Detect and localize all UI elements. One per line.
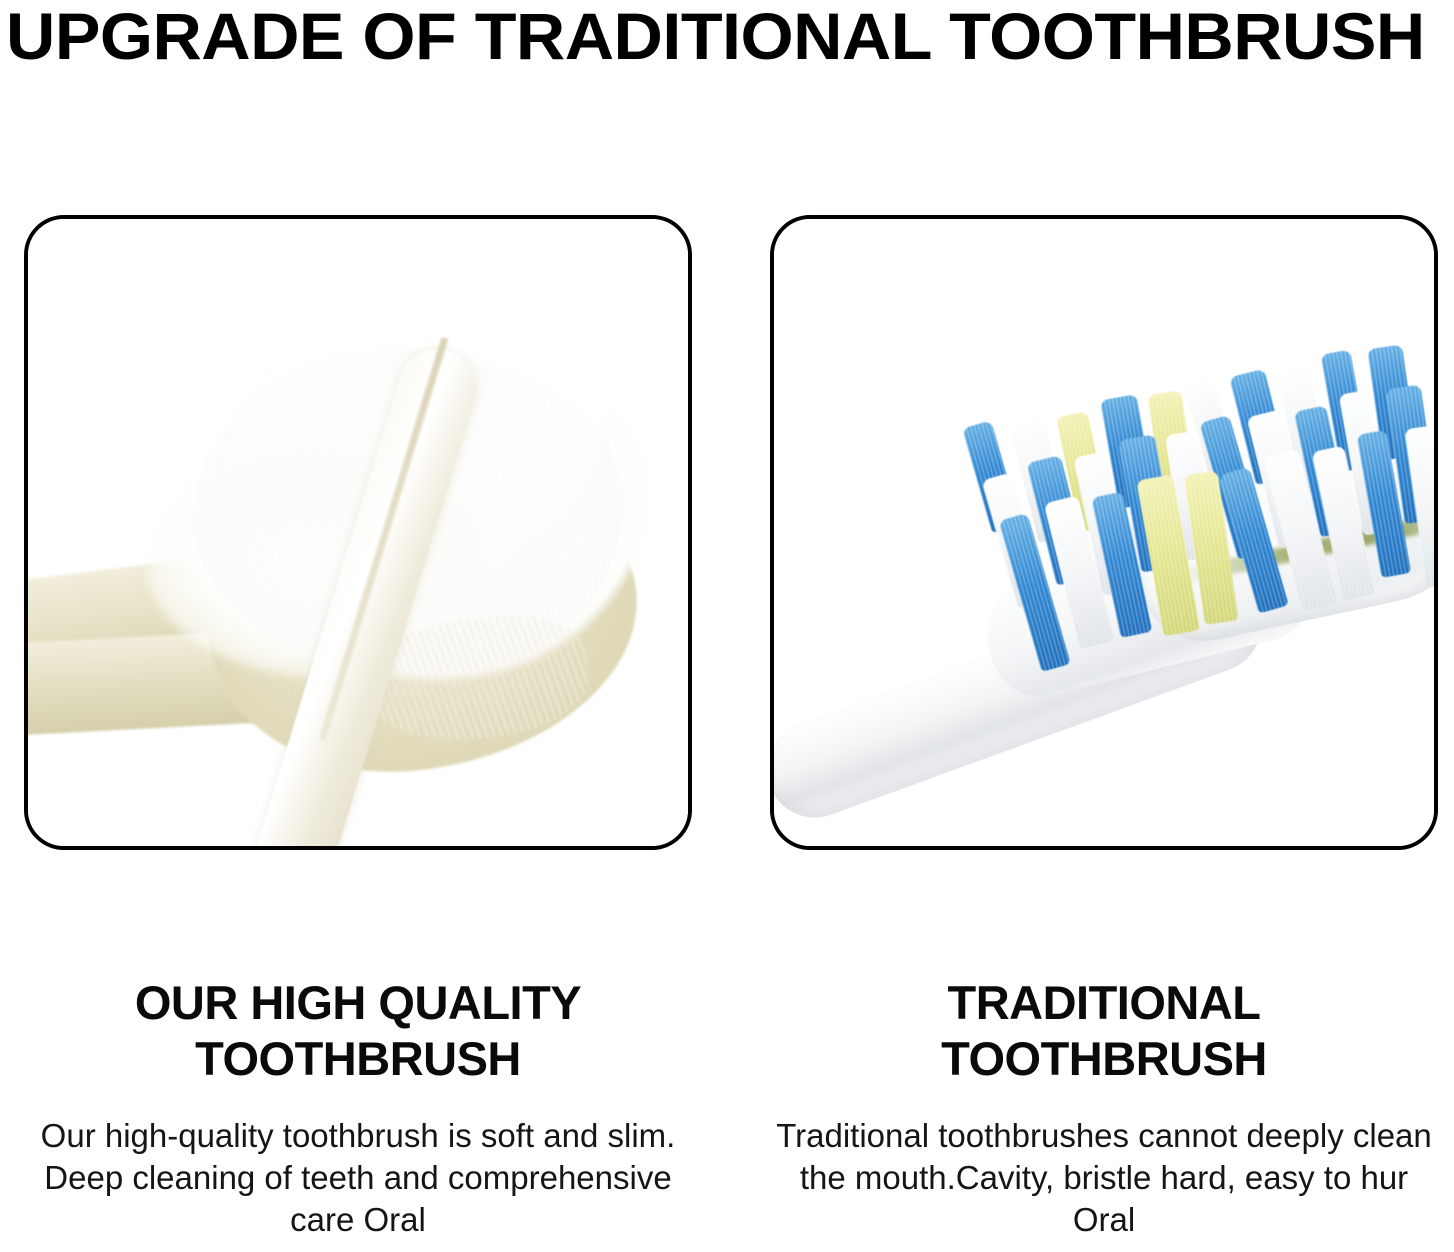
column-body-traditional-toothbrush: Traditional toothbrushes cannot deeply c… <box>776 1115 1432 1241</box>
comparison-column-our-toothbrush: OUR HIGH QUALITY TOOTHBRUSH Our high-qua… <box>24 215 692 1252</box>
comparison-row: OUR HIGH QUALITY TOOTHBRUSH Our high-qua… <box>0 215 1454 1252</box>
traditional-blue-yellow-bristle-toothbrush-photo <box>774 219 1434 846</box>
photo-panel-our-toothbrush <box>24 215 692 850</box>
column-heading-our-toothbrush: OUR HIGH QUALITY TOOTHBRUSH <box>24 975 692 1087</box>
page-title: UPGRADE OF TRADITIONAL TOOTHBRUSH <box>6 0 1454 72</box>
column-heading-line2: TOOTHBRUSH <box>24 1031 692 1087</box>
column-heading-traditional-toothbrush: TRADITIONAL TOOTHBRUSH <box>770 975 1438 1087</box>
column-heading-line1: TRADITIONAL <box>770 975 1438 1031</box>
column-heading-line1: OUR HIGH QUALITY <box>24 975 692 1031</box>
traditional-bristle-tufts <box>950 322 1438 676</box>
photo-panel-traditional-toothbrush <box>770 215 1438 850</box>
soft-slim-white-bristle-toothbrush-photo <box>28 219 688 846</box>
comparison-column-traditional-toothbrush: TRADITIONAL TOOTHBRUSH Traditional tooth… <box>770 215 1438 1252</box>
column-body-our-toothbrush: Our high-quality toothbrush is soft and … <box>30 1115 686 1241</box>
column-heading-line2: TOOTHBRUSH <box>770 1031 1438 1087</box>
